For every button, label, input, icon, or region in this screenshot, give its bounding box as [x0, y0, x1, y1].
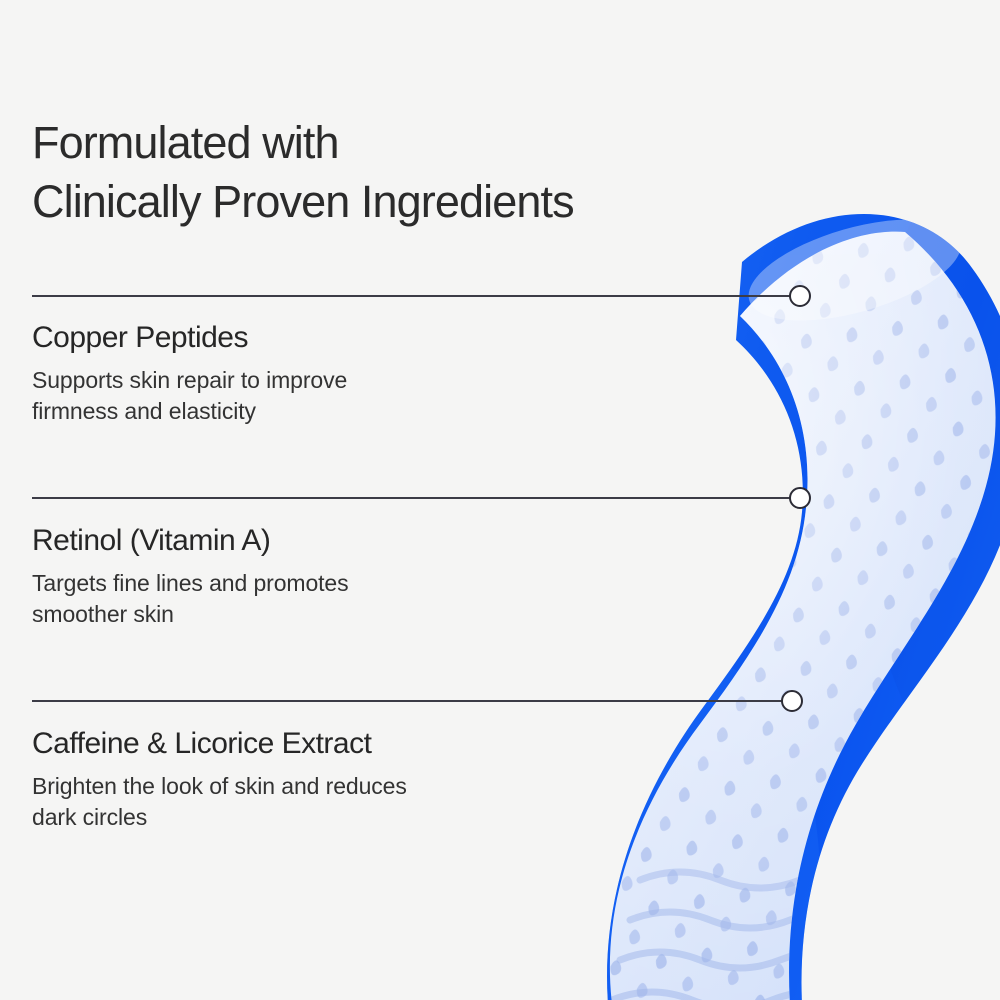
callout-retinol: Retinol (Vitamin A) Targets fine lines a… — [32, 523, 349, 631]
leader-line-caffeine-licorice — [32, 700, 786, 702]
callout-description-line-1: Targets fine lines and promotes — [32, 568, 349, 599]
callout-title: Retinol (Vitamin A) — [32, 523, 349, 559]
callout-description: Targets fine lines and promotes smoother… — [32, 568, 349, 631]
callout-description-line-1: Brighten the look of skin and reduces — [32, 771, 407, 802]
leader-dot-copper-peptides — [789, 285, 811, 307]
callout-description: Supports skin repair to improve firmness… — [32, 365, 347, 428]
product-rim — [607, 214, 1000, 1000]
leader-dot-caffeine-licorice — [781, 690, 803, 712]
callout-copper-peptides: Copper Peptides Supports skin repair to … — [32, 320, 347, 428]
callout-caffeine-licorice: Caffeine & Licorice Extract Brighten the… — [32, 726, 407, 834]
leader-line-retinol — [32, 497, 794, 499]
callout-description: Brighten the look of skin and reduces da… — [32, 771, 407, 834]
callout-description-line-2: smoother skin — [32, 599, 349, 630]
headline-line-1: Formulated with — [32, 114, 752, 173]
gel-texture — [560, 200, 1000, 1000]
callout-description-line-2: firmness and elasticity — [32, 396, 347, 427]
leader-line-copper-peptides — [32, 295, 794, 297]
callout-description-line-2: dark circles — [32, 802, 407, 833]
page-title: Formulated with Clinically Proven Ingred… — [32, 114, 752, 231]
leader-dot-retinol — [789, 487, 811, 509]
product-infographic: Formulated with Clinically Proven Ingred… — [0, 0, 1000, 1000]
product-interior — [610, 232, 996, 1000]
callout-description-line-1: Supports skin repair to improve — [32, 365, 347, 396]
callout-title: Copper Peptides — [32, 320, 347, 356]
headline-line-2: Clinically Proven Ingredients — [32, 173, 752, 232]
callout-title: Caffeine & Licorice Extract — [32, 726, 407, 762]
